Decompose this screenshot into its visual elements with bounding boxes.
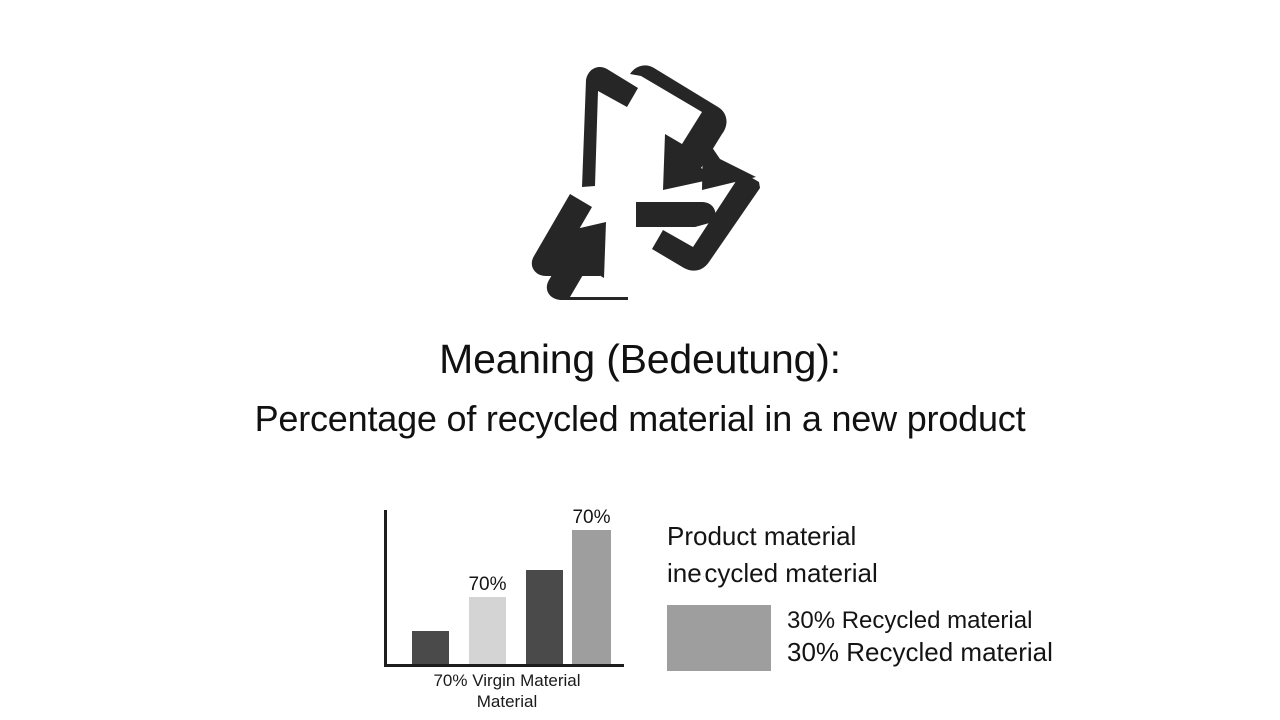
chart-x-axis (384, 664, 624, 667)
page-subtitle: Percentage of recycled material in a new… (0, 394, 1280, 444)
bar-chart: 70% 70% 70% Virgin Material Material (380, 500, 625, 672)
legend-label-2: 30% Recycled material (787, 636, 1053, 669)
annotation-block: Product material ine·cycled material (667, 518, 1087, 596)
chart-x-tick-labels: 70% Virgin Material Material (388, 670, 626, 712)
x-tick-label-line1: 70% Virgin Material (433, 671, 580, 690)
legend-swatch-recycled (667, 605, 771, 671)
annotation-line-2-prefix: ine (667, 558, 702, 588)
bar-4: 70% (572, 530, 611, 664)
bar-1 (412, 631, 449, 664)
bar-2: 70% (469, 597, 506, 664)
chart-legend: 30% Recycled material 30% Recycled mater… (667, 603, 1087, 671)
chart-plot-area: 70% 70% (387, 508, 625, 664)
annotation-line-2-suffix: cycled material (704, 558, 877, 588)
bar-2-label: 70% (468, 574, 506, 596)
slide-canvas: Meaning (Bedeutung): Percentage of recyc… (0, 0, 1280, 720)
recycling-symbol-icon (512, 62, 764, 302)
annotation-line-1: Product material (667, 518, 1087, 555)
legend-text-group: 30% Recycled material 30% Recycled mater… (787, 603, 1053, 669)
annotation-line-2: ine·cycled material (667, 555, 1087, 596)
bar-3 (526, 570, 563, 664)
legend-label-1: 30% Recycled material (787, 605, 1053, 636)
headline-block: Meaning (Bedeutung): Percentage of recyc… (0, 332, 1280, 444)
page-title: Meaning (Bedeutung): (0, 332, 1280, 386)
bar-4-label: 70% (572, 507, 610, 529)
x-tick-label-line2: Material (388, 691, 626, 712)
